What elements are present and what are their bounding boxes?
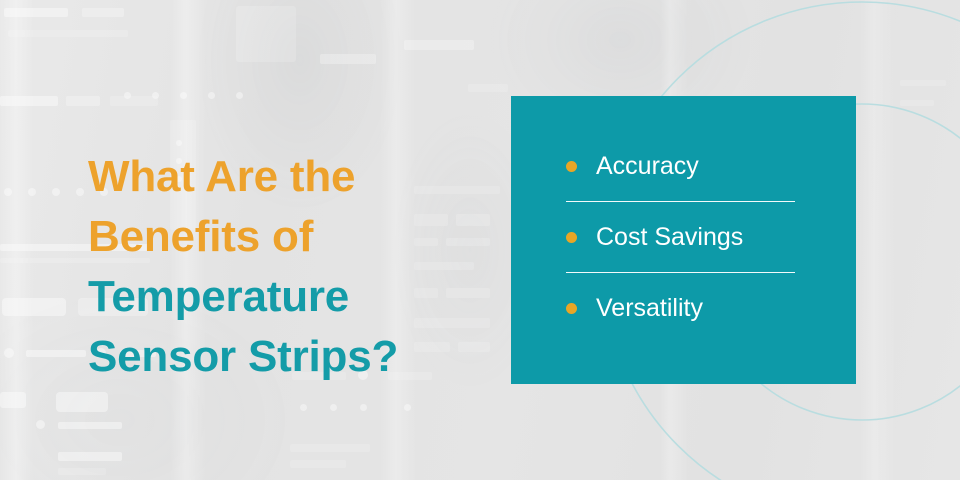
headline-line-1: What Are the xyxy=(88,147,488,207)
slide-canvas: What Are the Benefits of Temperature Sen… xyxy=(0,0,960,480)
bullet-dot-icon xyxy=(566,232,577,243)
bullet-dot-icon xyxy=(566,161,577,172)
benefit-label-versatility: Versatility xyxy=(596,294,703,322)
benefits-panel: Accuracy Cost Savings Versatility xyxy=(511,96,856,384)
benefit-label-cost-savings: Cost Savings xyxy=(596,223,743,251)
list-item: Accuracy xyxy=(566,144,806,188)
list-divider-1 xyxy=(566,201,795,202)
headline-line-4: Sensor Strips? xyxy=(88,327,488,387)
headline-line-2: Benefits of xyxy=(88,207,488,267)
benefits-list: Accuracy Cost Savings Versatility xyxy=(566,144,806,330)
list-item: Versatility xyxy=(566,286,806,330)
list-item: Cost Savings xyxy=(566,215,806,259)
benefit-label-accuracy: Accuracy xyxy=(596,152,699,180)
list-divider-2 xyxy=(566,272,795,273)
headline-line-3: Temperature xyxy=(88,267,488,327)
bullet-dot-icon xyxy=(566,303,577,314)
page-title: What Are the Benefits of Temperature Sen… xyxy=(88,147,488,387)
